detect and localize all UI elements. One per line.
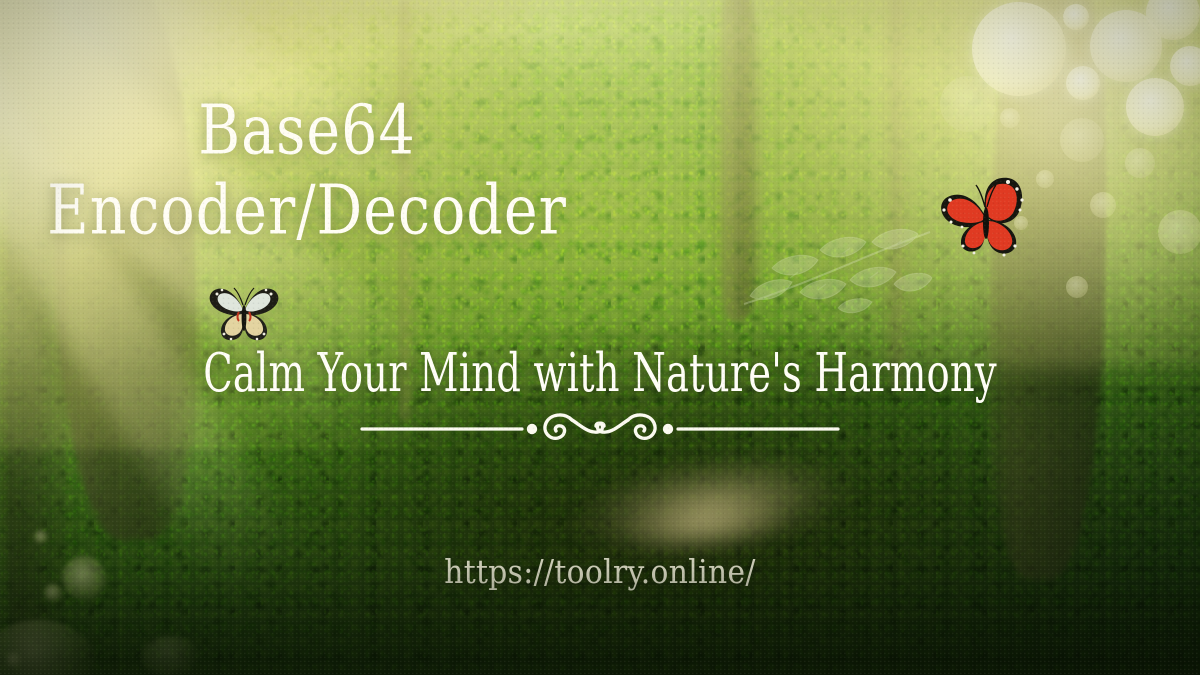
light-flare-top-right [710,0,1200,370]
hero-banner: Base64 Encoder/Decoder Calm Your Mind wi… [0,0,1200,675]
sun-glow [0,0,530,450]
